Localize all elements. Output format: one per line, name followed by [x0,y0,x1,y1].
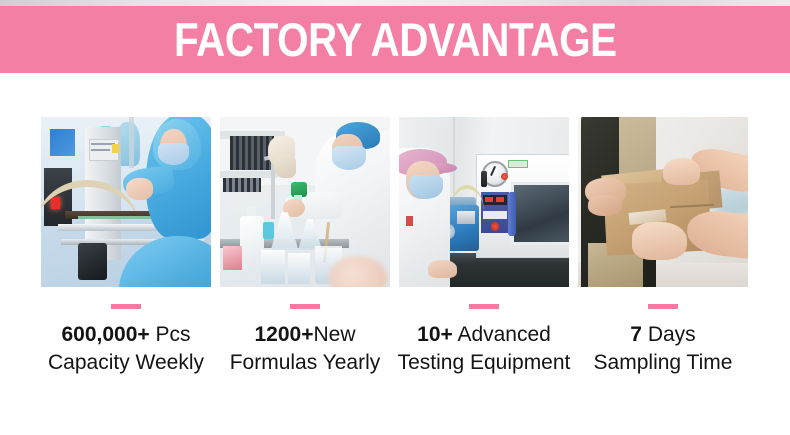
oven-display-2 [483,211,507,220]
stat-unit: Days [642,323,696,346]
stat-caption: 600,000+ Pcs Capacity Weekly [48,321,204,377]
stat-number: 10+ [417,323,453,346]
stat-number: 600,000+ [61,323,149,346]
calibration-sticker [508,160,529,169]
factory-advantage-page: FACTORY ADVANTAGE [0,0,790,435]
conveyor-motor [78,243,107,280]
face-mask-icon [409,175,443,199]
stat-caption: 10+ Advanced Testing Equipment [398,321,571,377]
frame-bar [129,117,134,168]
oven-door-handle [508,192,517,236]
display-digits [485,197,494,202]
advantage-columns: 600,000+ Pcs Capacity Weekly [41,117,749,407]
stat-number: 1200+ [254,323,313,346]
pipette-rack-2 [223,178,260,192]
pink-dash-divider [290,304,320,309]
receiver-fingers-lower [632,222,686,259]
blue-cap-icon [263,222,275,239]
courier-hand-2 [588,195,622,215]
reagent-label [223,246,242,270]
id-badge-icon [406,216,413,226]
stat-description: Formulas Yearly [230,349,381,377]
beaker-2 [288,253,310,284]
advantage-column-testing: 10+ Advanced Testing Equipment [399,117,569,407]
filter-paper-2 [274,154,296,178]
header-banner: FACTORY ADVANTAGE [0,6,790,73]
factory-production-line-photo [41,117,211,287]
laboratory-formulation-photo [220,117,390,287]
erlenmeyer-flask [271,212,298,249]
technician-hand [428,260,457,279]
pink-dash-divider [111,304,141,309]
advantage-column-sampling: 7 Days Sampling Time [578,117,748,407]
blue-signage [50,129,76,156]
machine-label-line-2 [91,149,110,151]
advantage-column-formulas: 1200+New Formulas Yearly [220,117,390,407]
oven-indicator-icon [501,173,508,180]
worker-hand [126,178,153,200]
warning-sticker-icon [112,144,119,153]
stat-caption: 7 Days Sampling Time [594,321,733,377]
stat-unit: Pcs [150,323,191,346]
pink-dash-divider [648,304,678,309]
stat-description: Testing Equipment [398,349,571,377]
face-mask-icon [158,143,189,165]
pink-dash-divider [469,304,499,309]
stat-description: Capacity Weekly [48,349,204,377]
testing-equipment-photo [399,117,569,287]
face-mask-icon [332,146,366,170]
stat-unit: Advanced [453,323,551,346]
sampling-delivery-photo [578,117,748,287]
oven-valve-knob [481,171,488,186]
beaker [261,250,285,284]
advantage-column-capacity: 600,000+ Pcs Capacity Weekly [41,117,211,407]
machine-label-line [91,143,115,145]
stat-description: Sampling Time [594,349,733,377]
oven-window [511,182,569,246]
lab-shelf-2 [220,171,278,178]
page-title: FACTORY ADVANTAGE [174,16,617,63]
stat-number: 7 [630,323,642,346]
stat-caption: 1200+New Formulas Yearly [230,321,381,377]
power-button-icon [491,222,500,231]
stat-unit: New [313,323,355,346]
pump-dial [457,211,476,225]
receiver-fingers-upper [663,158,700,185]
display-digits-2 [496,197,505,202]
